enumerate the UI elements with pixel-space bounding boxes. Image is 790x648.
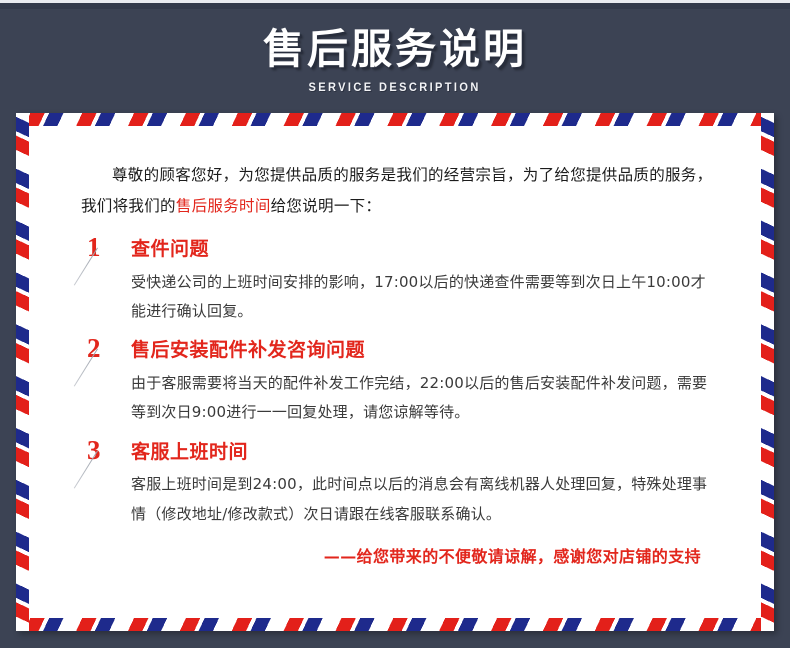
section-item: 2 售后安装配件补发咨询问题 由于客服需要将当天的配件补发工作完结，22:00以… — [81, 339, 717, 427]
header: 售后服务说明 SERVICE DESCRIPTION — [0, 9, 790, 113]
section-item: 1 查件问题 受快递公司的上班时间安排的影响，17:00以后的快递查件需要等到次… — [81, 238, 717, 326]
intro-paragraph: 尊敬的顾客您好，为您提供品质的服务是我们的经营宗旨，为了给您提供品质的服务，我们… — [81, 160, 717, 222]
section-title: 客服上班时间 — [131, 441, 717, 464]
section-body: 客服上班时间是到24:00，此时间点以后的消息会有离线机器人处理回复，特殊处理事… — [131, 470, 717, 529]
airmail-border-right — [761, 113, 774, 631]
intro-highlight: 售后服务时间 — [176, 197, 271, 215]
service-description-card: 尊敬的顾客您好，为您提供品质的服务是我们的经营宗旨，为了给您提供品质的服务，我们… — [16, 113, 774, 631]
footer-apology-note: ——给您带来的不便敬请谅解，感谢您对店铺的支持 — [81, 543, 717, 567]
section-number: 3 — [87, 437, 101, 464]
section-body: 受快递公司的上班时间安排的影响，17:00以后的快递查件需要等到次日上午10:0… — [131, 268, 717, 327]
page-subtitle: SERVICE DESCRIPTION — [309, 80, 481, 94]
section-title: 售后安装配件补发咨询问题 — [131, 339, 717, 362]
section-title: 查件问题 — [131, 238, 717, 261]
airmail-border-top — [16, 113, 774, 126]
section-item: 3 客服上班时间 客服上班时间是到24:00，此时间点以后的消息会有离线机器人处… — [81, 441, 717, 529]
page-title: 售后服务说明 — [263, 28, 527, 71]
airmail-border-bottom — [16, 618, 774, 631]
intro-text-part2: 给您说明一下： — [271, 197, 382, 215]
section-body: 由于客服需要将当天的配件补发工作完结，22:00以后的售后安装配件补发问题，需要… — [131, 369, 717, 428]
airmail-border-left — [16, 113, 29, 631]
card-content: 尊敬的顾客您好，为您提供品质的服务是我们的经营宗旨，为了给您提供品质的服务，我们… — [29, 126, 761, 618]
